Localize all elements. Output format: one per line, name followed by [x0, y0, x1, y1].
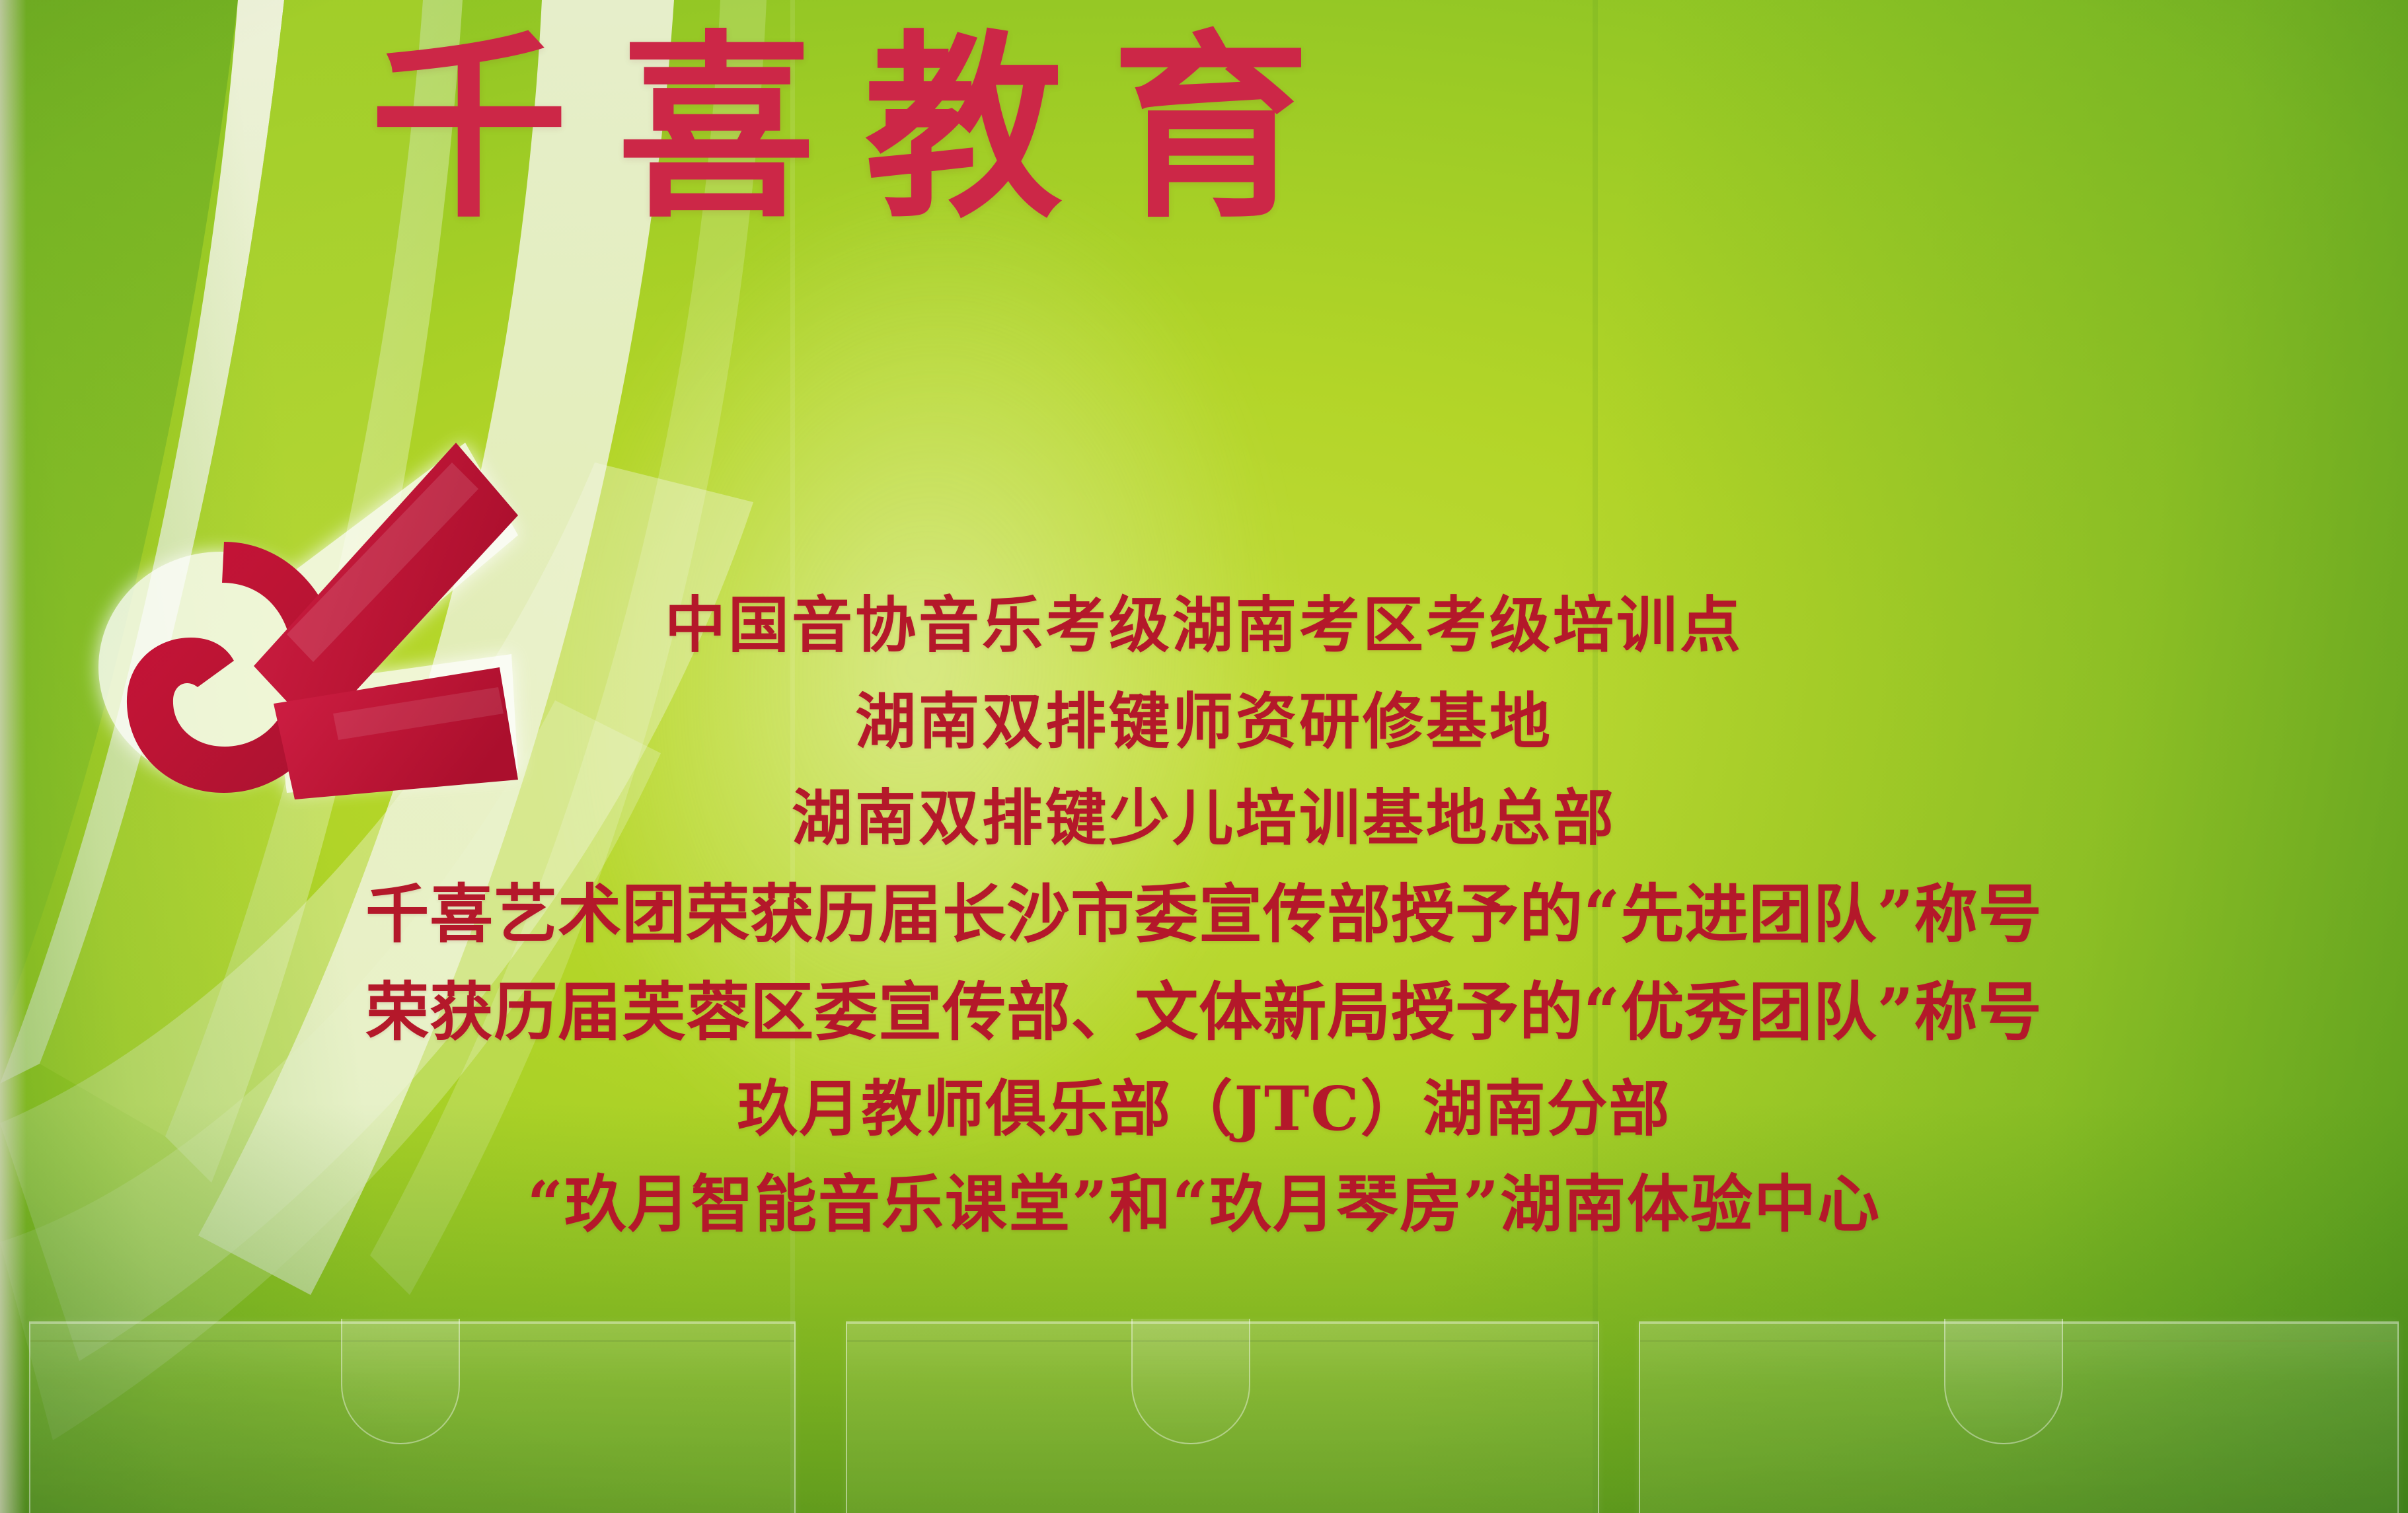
sign-line-2: 湖南双排键师资研修基地	[0, 691, 2408, 752]
sign-line-4: 千喜艺术团荣获历届长沙市委宣传部授予的“先进团队”称号	[0, 883, 2408, 946]
brochure-holder-left[interactable]	[29, 1321, 796, 1513]
brochure-holder-right[interactable]	[1639, 1321, 2399, 1513]
holder-thumb-notch	[341, 1319, 460, 1444]
holder-thumb-notch	[1131, 1319, 1250, 1444]
sign-line-5: 荣获历届芙蓉区委宣传部、文体新局授予的“优秀团队”称号	[0, 980, 2408, 1044]
wall-sign-panel: 千喜教育	[0, 0, 2408, 1513]
page-title: 千喜教育	[370, 29, 2062, 227]
sign-text-block: 中国音协音乐考级湖南考区考级培训点 湖南双排键师资研修基地 湖南双排键少儿培训基…	[0, 595, 2408, 1236]
sign-line-1: 中国音协音乐考级湖南考区考级培训点	[0, 595, 2408, 655]
brochure-holder-row	[0, 1315, 2408, 1513]
holder-thumb-notch	[1944, 1319, 2063, 1444]
photo-edge-left	[0, 0, 26, 1513]
sign-line-7: “玖月智能音乐课堂”和“玖月琴房”湖南体验中心	[0, 1173, 2408, 1236]
sign-line-3: 湖南双排键少儿培训基地总部	[0, 788, 2408, 848]
sign-line-6: 玖月教师俱乐部（JTC）湖南分部	[0, 1078, 2408, 1139]
brochure-holder-center[interactable]	[846, 1321, 1599, 1513]
